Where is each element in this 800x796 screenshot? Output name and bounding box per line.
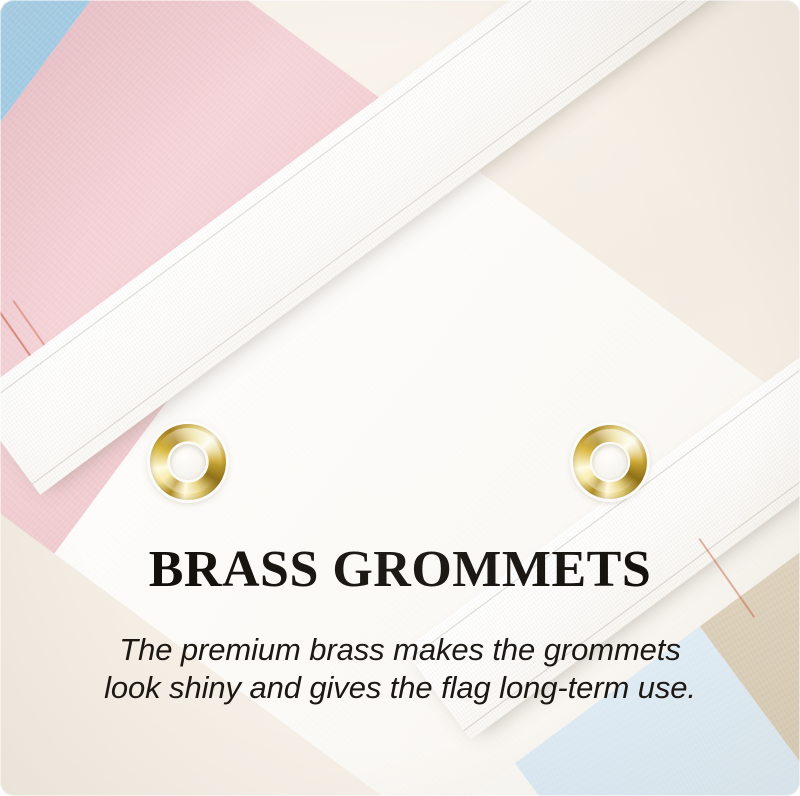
product-feature-image: BRASS GROMMETS The premium brass makes t…	[0, 0, 800, 796]
grommet-right-hole	[592, 444, 628, 480]
grommet-left	[150, 424, 226, 500]
grommet-right	[573, 425, 647, 499]
grommet-left-hole	[170, 444, 206, 480]
